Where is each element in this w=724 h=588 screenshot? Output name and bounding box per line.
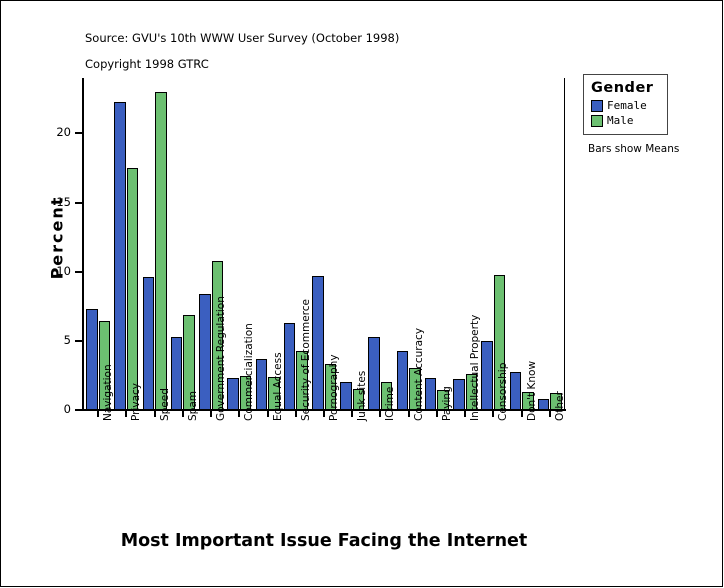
x-tick-label: Censorship <box>497 363 509 421</box>
x-tick-label: Security of Ecommerce <box>300 299 312 421</box>
y-axis-title: Percent <box>48 178 67 298</box>
bar-female-12 <box>425 378 437 410</box>
x-tick-mark <box>379 411 381 417</box>
y-tick-mark <box>75 271 82 273</box>
y-tick-mark <box>75 132 82 134</box>
x-tick-label: Other <box>554 391 566 421</box>
x-tick-mark <box>182 411 184 417</box>
bar-female-5 <box>227 378 239 410</box>
x-tick-label: Privacy <box>130 383 142 421</box>
legend-item-female[interactable]: Female <box>591 99 660 112</box>
source-caption: Source: GVU's 10th WWW User Survey (Octo… <box>85 31 399 45</box>
x-tick-mark <box>521 411 523 417</box>
x-tick-label: Don't Know <box>526 361 538 421</box>
x-tick-label: Speed <box>159 388 171 421</box>
bar-female-11 <box>397 351 409 410</box>
bar-female-8 <box>312 276 324 410</box>
y-tick-label: 20 <box>45 125 71 139</box>
bar-female-3 <box>171 337 183 410</box>
y-tick-mark <box>75 340 82 342</box>
x-tick-mark <box>492 411 494 417</box>
legend-note: Bars show Means <box>588 143 679 155</box>
x-tick-mark <box>97 411 99 417</box>
x-tick-label: Government Regulation <box>215 296 227 421</box>
x-tick-label: Pornography <box>328 354 340 421</box>
legend-title: Gender <box>591 80 660 96</box>
bar-female-14 <box>481 341 493 410</box>
x-tick-mark <box>351 411 353 417</box>
bar-female-16 <box>538 399 550 410</box>
y-tick-label: 5 <box>45 333 71 347</box>
x-tick-label: Junk sites <box>356 371 368 421</box>
x-tick-label: Paying <box>441 386 453 421</box>
legend-swatch-icon <box>591 115 603 127</box>
x-tick-mark <box>154 411 156 417</box>
x-tick-mark <box>436 411 438 417</box>
bar-female-1 <box>114 102 126 410</box>
x-tick-mark <box>323 411 325 417</box>
x-tick-mark <box>210 411 212 417</box>
x-tick-label: Intellectual Property <box>469 315 481 421</box>
bar-male-2 <box>155 92 167 410</box>
x-tick-label: Commercialization <box>243 323 255 421</box>
x-tick-mark <box>267 411 269 417</box>
bar-female-15 <box>510 372 522 410</box>
bar-female-10 <box>368 337 380 410</box>
legend-item-label: Female <box>607 99 647 112</box>
bars-layer <box>84 78 564 410</box>
x-tick-mark <box>549 411 551 417</box>
legend-entries: FemaleMale <box>591 99 660 127</box>
x-tick-mark <box>238 411 240 417</box>
bar-male-1 <box>127 168 139 410</box>
copyright-caption: Copyright 1998 GTRC <box>85 57 209 71</box>
legend: Gender FemaleMale <box>583 74 668 135</box>
x-axis-title: Most Important Issue Facing the Internet <box>83 531 565 551</box>
x-tick-mark <box>464 411 466 417</box>
bar-female-9 <box>340 382 352 410</box>
legend-item-label: Male <box>607 114 634 127</box>
x-tick-label: Navigation <box>102 364 114 421</box>
y-tick-label: 0 <box>45 402 71 416</box>
bar-female-4 <box>199 294 211 410</box>
plot-right-border <box>564 78 565 411</box>
y-tick-mark <box>75 202 82 204</box>
bar-female-13 <box>453 379 465 410</box>
x-tick-label: Spam <box>187 391 199 421</box>
legend-item-male[interactable]: Male <box>591 114 660 127</box>
legend-swatch-icon <box>591 100 603 112</box>
bar-female-0 <box>86 309 98 410</box>
x-tick-label: Content Accuracy <box>413 328 425 421</box>
x-tick-label: Equal Access <box>272 352 284 421</box>
x-tick-mark <box>125 411 127 417</box>
x-tick-label: ICrime <box>384 387 396 421</box>
bar-female-2 <box>143 277 155 410</box>
x-tick-mark <box>295 411 297 417</box>
bar-female-6 <box>256 359 268 410</box>
bar-female-7 <box>284 323 296 410</box>
y-tick-mark <box>75 409 82 411</box>
x-tick-mark <box>408 411 410 417</box>
